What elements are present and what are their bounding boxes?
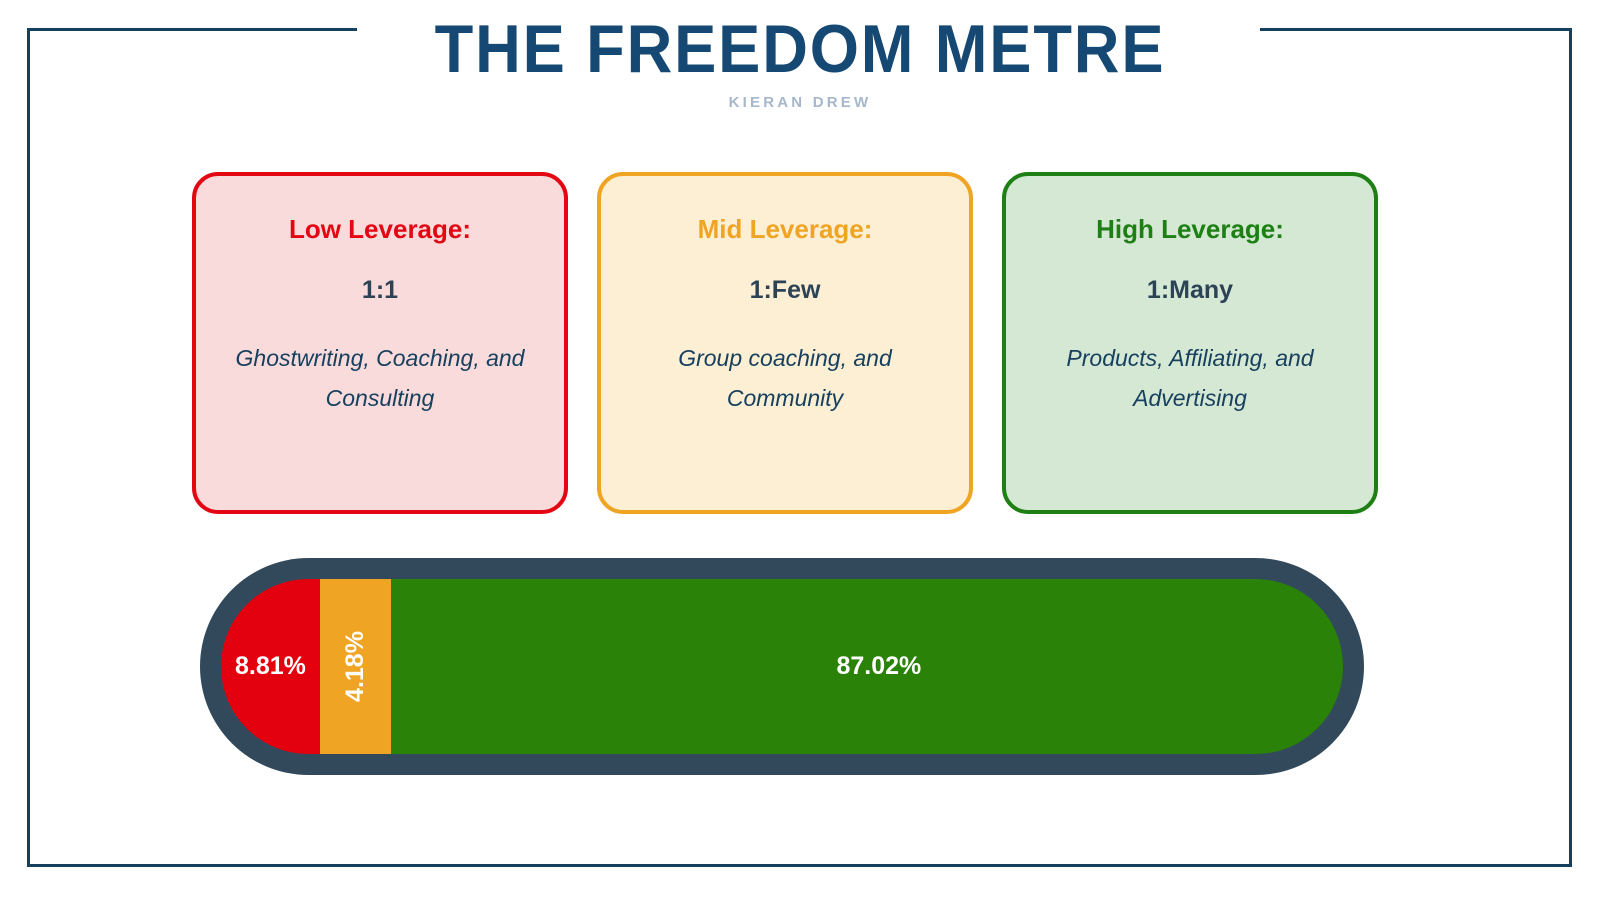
card-low-ratio: 1:1 bbox=[222, 244, 538, 304]
author-subtitle: KIERAN DREW bbox=[0, 84, 1600, 111]
card-mid-ratio: 1:Few bbox=[627, 244, 943, 304]
card-high-body: Products, Affiliating, and Advertising bbox=[1032, 304, 1348, 418]
header: THE FREEDOM METRE KIERAN DREW bbox=[0, 0, 1600, 111]
metre-segment-low-label: 8.81% bbox=[235, 652, 306, 681]
page-title: THE FREEDOM METRE bbox=[56, 0, 1544, 84]
metre-segment-high: 87.02% bbox=[391, 579, 1343, 754]
card-low-body: Ghostwriting, Coaching, and Consulting bbox=[222, 304, 538, 418]
card-mid-body: Group coaching, and Community bbox=[627, 304, 943, 418]
metre-segment-mid-label: 4.18% bbox=[341, 631, 370, 702]
freedom-metre-bar: 8.81% 4.18% 87.02% bbox=[200, 558, 1364, 775]
metre-track: 8.81% 4.18% 87.02% bbox=[221, 579, 1343, 754]
metre-segment-high-label: 87.02% bbox=[836, 652, 921, 681]
metre-segment-low: 8.81% bbox=[221, 579, 320, 754]
leverage-cards: Low Leverage: 1:1 Ghostwriting, Coaching… bbox=[192, 172, 1378, 514]
metre-segment-mid: 4.18% bbox=[320, 579, 391, 754]
card-high-leverage: High Leverage: 1:Many Products, Affiliat… bbox=[1002, 172, 1378, 514]
card-low-leverage: Low Leverage: 1:1 Ghostwriting, Coaching… bbox=[192, 172, 568, 514]
card-high-ratio: 1:Many bbox=[1032, 244, 1348, 304]
card-mid-leverage: Mid Leverage: 1:Few Group coaching, and … bbox=[597, 172, 973, 514]
card-low-heading: Low Leverage: bbox=[222, 214, 538, 244]
card-mid-heading: Mid Leverage: bbox=[627, 214, 943, 244]
card-high-heading: High Leverage: bbox=[1032, 214, 1348, 244]
